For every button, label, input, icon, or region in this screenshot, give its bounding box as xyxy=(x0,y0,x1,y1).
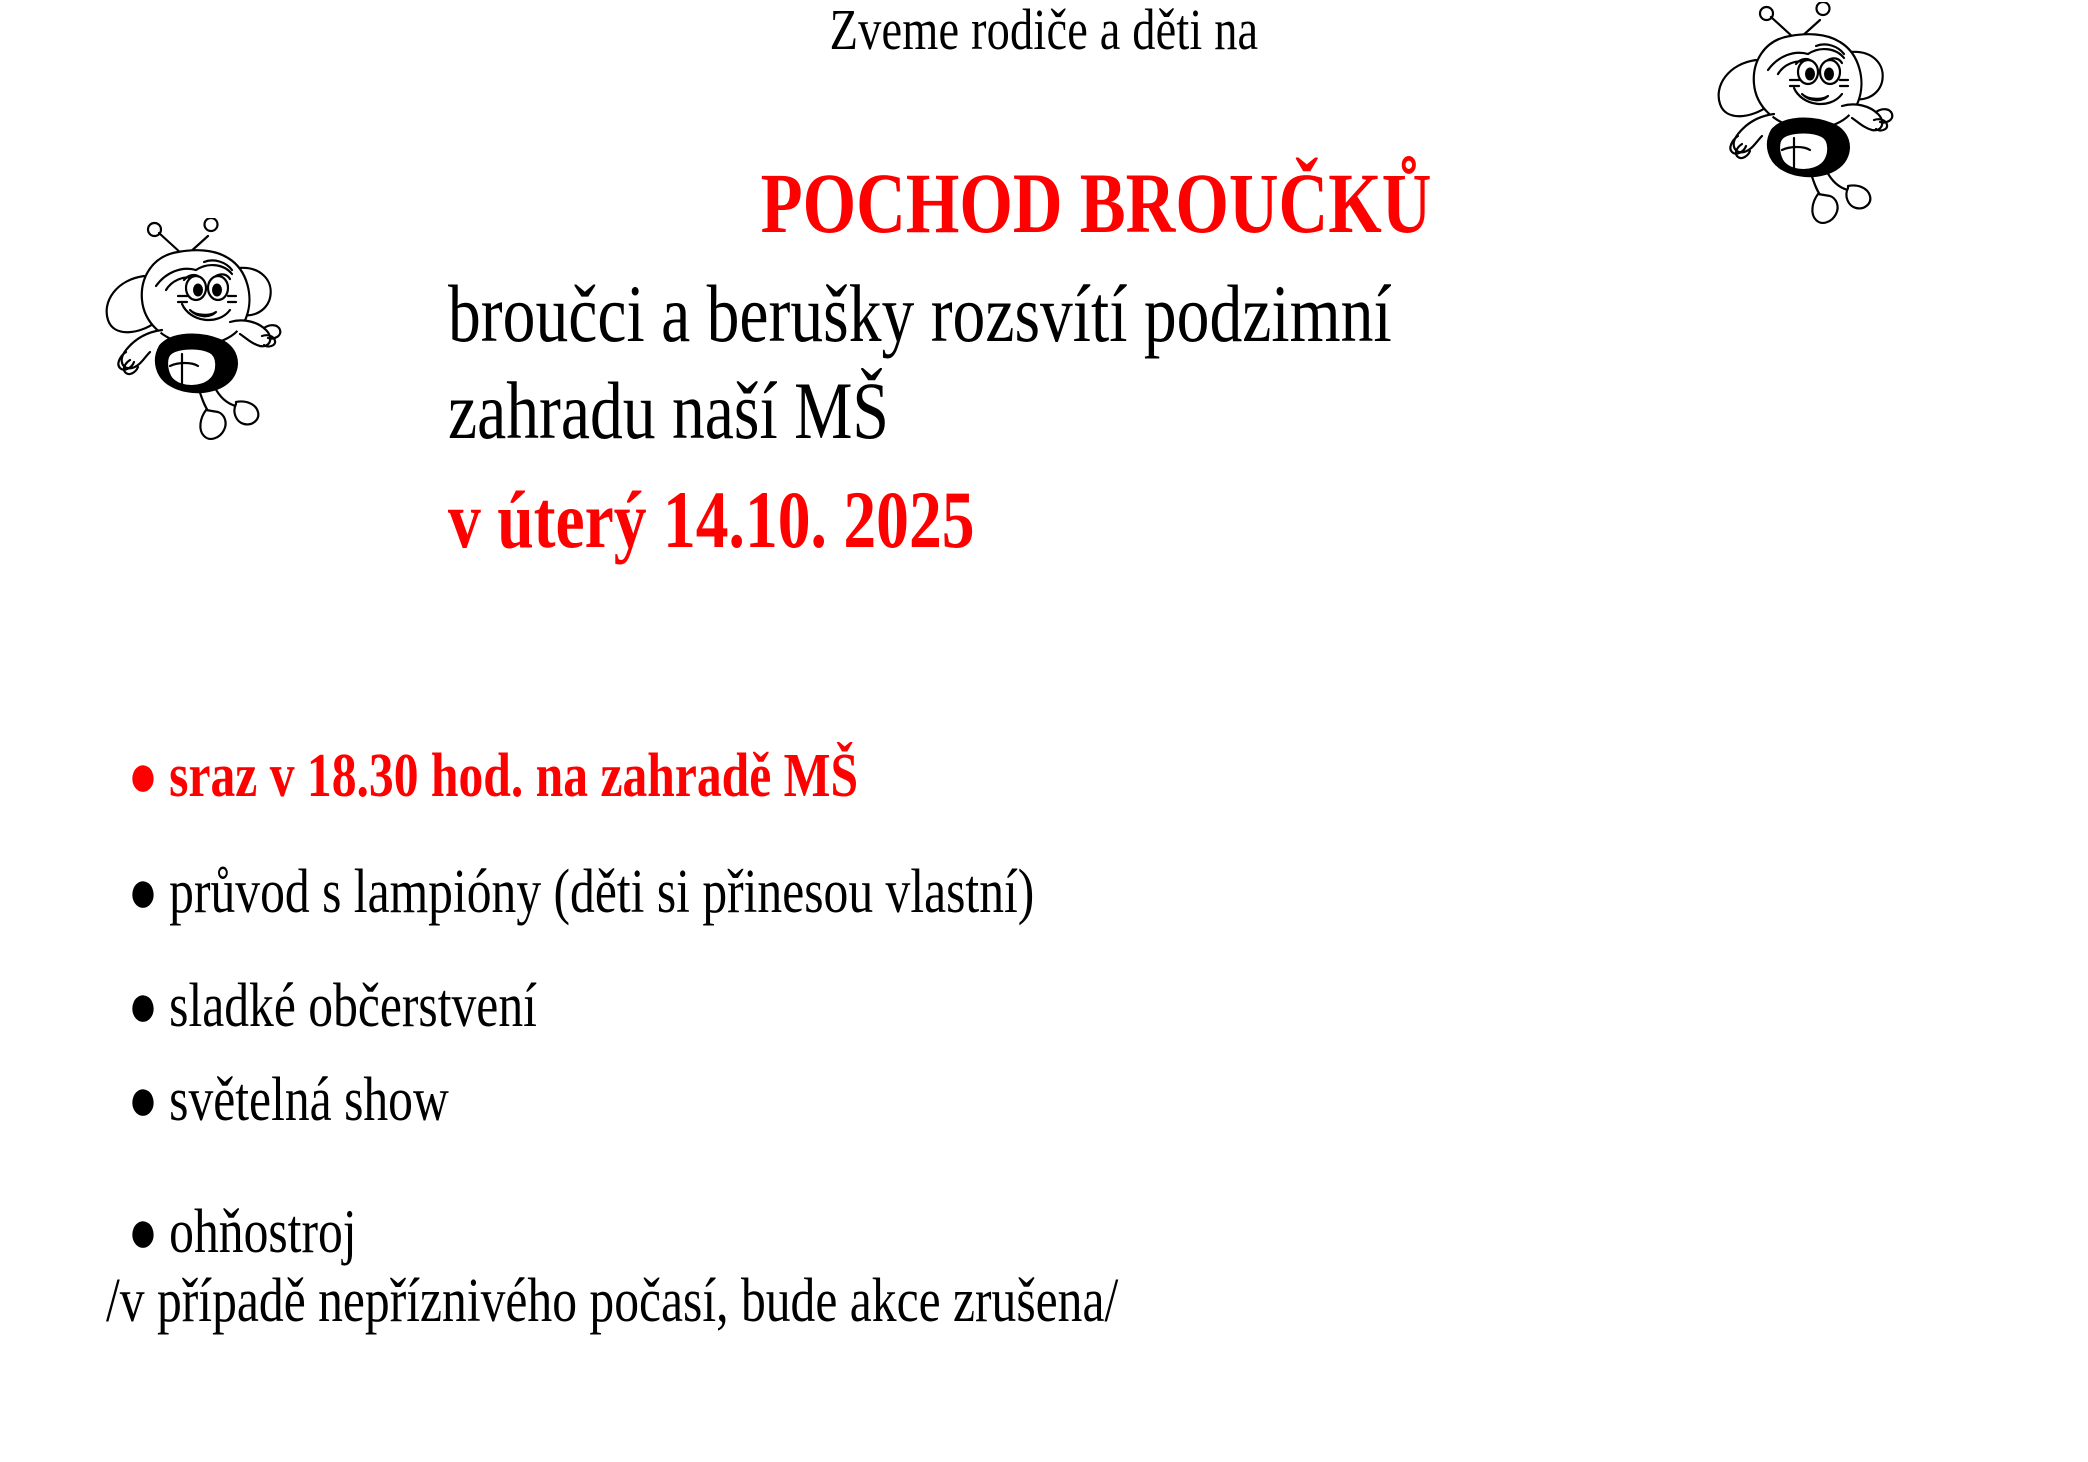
list-item: ●ohňostroj xyxy=(128,1201,1648,1263)
subtitle-line-2: zahradu naší MŠ xyxy=(448,363,1696,460)
list-item: ●sladké občerstvení xyxy=(128,975,1648,1037)
list-item: ●sraz v 18.30 hod. na zahradě MŠ xyxy=(128,745,1648,807)
subtitle-line-1: broučci a berušky rozsvítí podzimní xyxy=(448,266,1696,363)
page-title: POCHOD BROUČKŮ xyxy=(448,160,1696,246)
details-list: ●sraz v 18.30 hod. na zahradě MŠ ●průvod… xyxy=(128,745,2028,1334)
bullet-dot-icon: ● xyxy=(128,1069,158,1131)
bullet-dot-icon: ● xyxy=(128,861,158,923)
bullet-dot-icon: ● xyxy=(128,1201,158,1263)
bee-illustration-left xyxy=(78,218,368,448)
headline-block: POCHOD BROUČKŮ broučci a berušky rozsvít… xyxy=(448,160,2008,568)
weather-note: /v případě nepříznivého počasí, bude akc… xyxy=(106,1269,1644,1334)
invite-line: Zveme rodiče a děti na xyxy=(209,0,1879,64)
event-date: v úterý 14.10. 2025 xyxy=(448,472,1696,569)
list-item-label: sladké občerstvení xyxy=(169,972,537,1040)
list-item-label: sraz v 18.30 hod. na zahradě MŠ xyxy=(169,742,858,810)
subtitle: broučci a berušky rozsvítí podzimní zahr… xyxy=(448,266,1696,460)
list-item: ●průvod s lampióny (děti si přinesou vla… xyxy=(128,861,1648,923)
bullet-dot-icon: ● xyxy=(128,975,158,1037)
list-item-label: světelná show xyxy=(169,1066,449,1134)
list-item: ●světelná show xyxy=(128,1069,1648,1131)
list-item-label: ohňostroj xyxy=(169,1198,356,1266)
list-item-label: průvod s lampióny (děti si přinesou vlas… xyxy=(169,858,1034,926)
poster-canvas: Zveme rodiče a děti na POCHOD BROUČKŮ br… xyxy=(0,0,2088,1462)
bullet-dot-icon: ● xyxy=(128,745,158,807)
